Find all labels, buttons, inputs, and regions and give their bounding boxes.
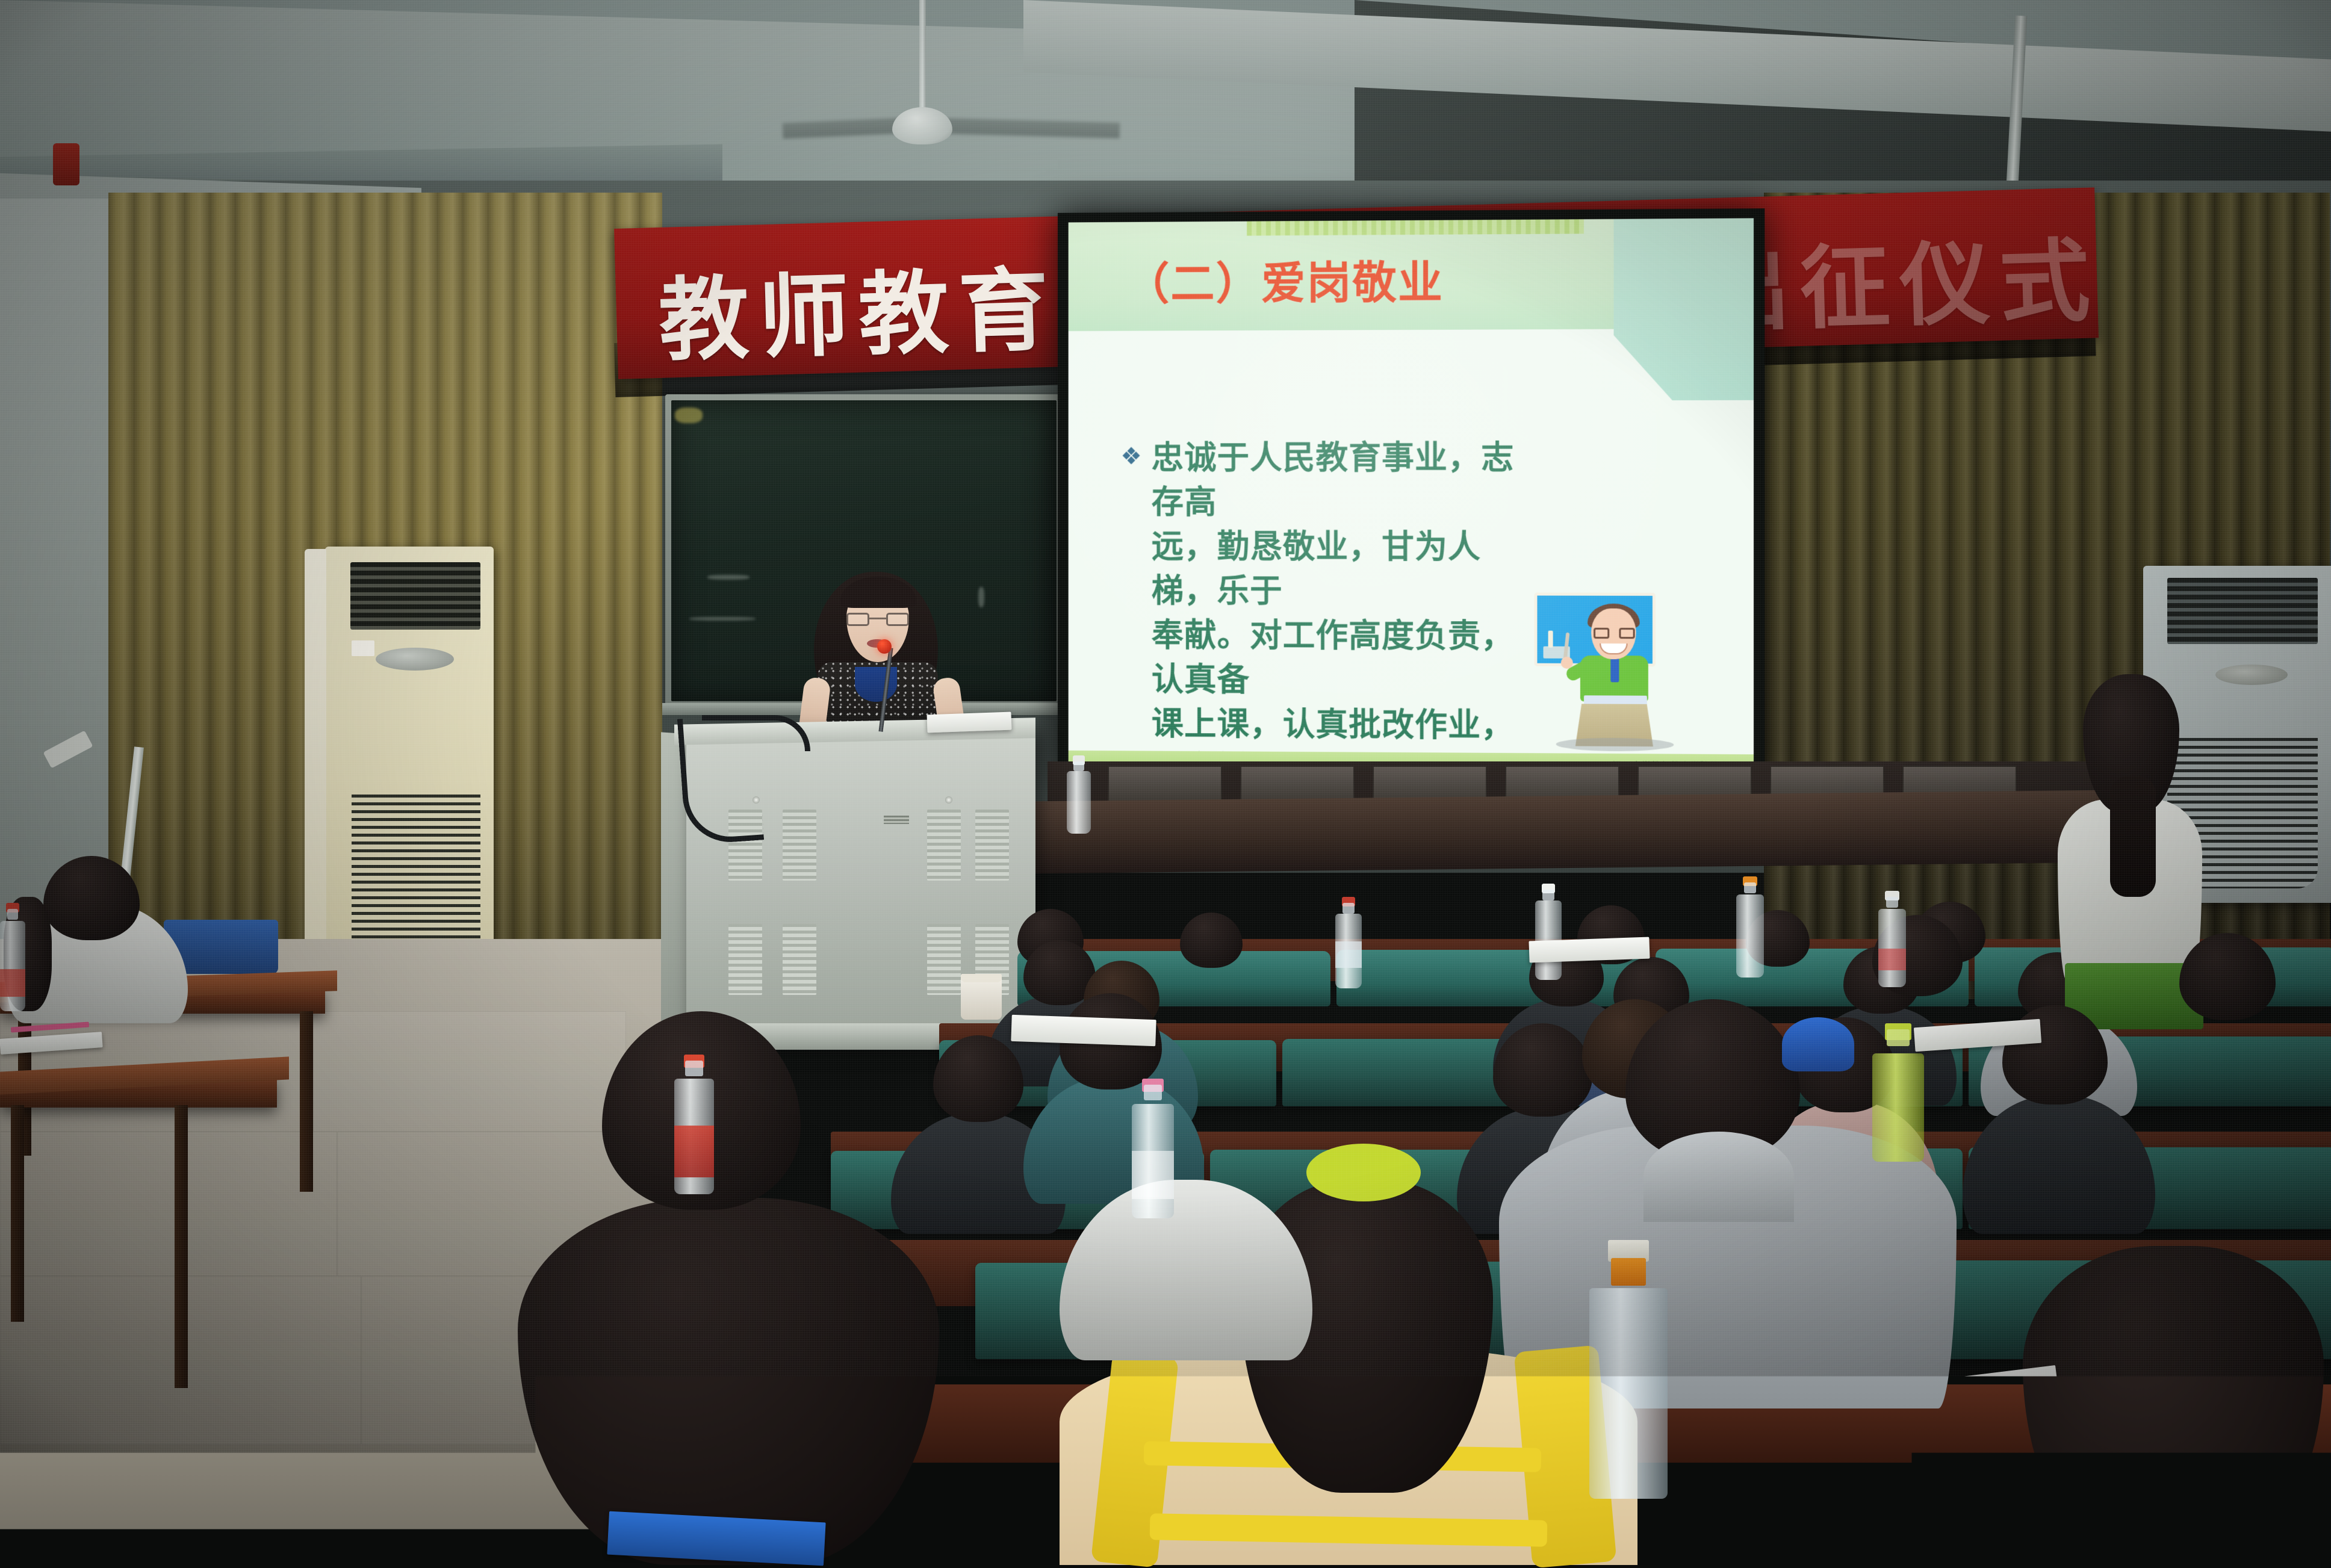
bottle-red-cap [1335,897,1362,988]
cartoon-shadow [1556,737,1674,751]
ac-display-panel[interactable] [2215,665,2288,685]
presenter-neckline [855,667,897,702]
bottle-orange-cap-foreground [1589,1240,1668,1499]
fan-rod [919,0,926,114]
audience-shoulders [1963,1095,2155,1234]
cartoon-teacher-illustration [1528,592,1674,749]
slide-body-text: 忠诚于人民教育事业，志存高 远，勤恳敬业，甘为人梯，乐于 奉献。对工作高度负责，… [1152,436,1536,775]
bottle-pink-cap [1132,1079,1174,1218]
paper-cup-rim [961,974,1002,982]
presenter-glasses-bridge [869,618,886,619]
presenter-glasses-icon [846,613,869,626]
microphone-led-icon [877,639,892,654]
stage-panel [1108,766,1222,803]
projection-screen: （二）爱岗敬业 ❖ 忠诚于人民教育事业，志存高 远，勤恳敬业，甘为人梯，乐于 奉… [1069,218,1754,775]
desk-leg [175,1105,188,1388]
podium-vent-slot [884,816,909,824]
bottle-white-cap [1067,755,1091,834]
cartoon-chalk-icon [1548,631,1553,648]
ac-display-panel[interactable] [376,648,454,671]
slide-header-corner [1613,218,1754,400]
presentation-slide: （二）爱岗敬业 ❖ 忠诚于人民教育事业，志存高 远，勤恳敬业，甘为人梯，乐于 奉… [1069,218,1754,775]
presenter-glasses-icon [886,613,909,626]
projection-screen-frame: （二）爱岗敬业 ❖ 忠诚于人民教育事业，志存高 远，勤恳敬业，甘为人梯，乐于 奉… [1058,208,1765,785]
ac-label [352,640,374,656]
bullet-diamond-icon: ❖ [1120,444,1151,472]
standing-attendee-ponytail [2110,776,2156,897]
attendee-left-hair [518,1198,939,1565]
paper-on-bench [1011,1015,1156,1046]
bottle-orange-cap [1736,876,1764,978]
blue-pouch [1782,1017,1854,1071]
cartoon-teacher-hand [1561,657,1573,669]
slide-title: （二）爱岗敬业 [1125,247,1444,312]
desk-leg [11,1105,24,1322]
slide-header-notch [1247,219,1584,235]
slide-body-line: 奉献。对工作高度负责，认真备 [1152,613,1536,704]
podium-papers [927,712,1012,733]
ac-top-vent [350,562,480,630]
attendee-hood [1643,1132,1794,1222]
banner-text-left: 教师教育 [657,237,1060,378]
bullet-glyph: ❖ [1120,444,1141,470]
cartoon-tie [1610,658,1619,682]
bottle-red-label [674,1055,714,1194]
slide-body-line: 忠诚于人民教育事业，志存高 [1152,436,1536,525]
slide-body-line: 远，勤恳敬业，甘为人梯，乐于 [1152,525,1536,615]
bottle-white-cap [1535,884,1562,980]
desk-leg [300,1011,313,1192]
podium-cable [702,715,810,751]
paper-on-bench [1529,937,1650,963]
cartoon-glasses-icon [1592,628,1636,639]
stage-panel [1240,766,1355,803]
audience-head [1180,913,1243,968]
ac-top-vent [2167,578,2318,644]
hair-tie [1306,1144,1421,1201]
fire-alarm-box [53,143,79,185]
lecture-hall-scene: 教师教育 出征仪式 （二）爱岗敬业 ❖ 忠诚于人民教 [0,0,2331,1560]
bottle-white-cap [1878,891,1906,987]
bottle-red-cap [0,903,25,1011]
